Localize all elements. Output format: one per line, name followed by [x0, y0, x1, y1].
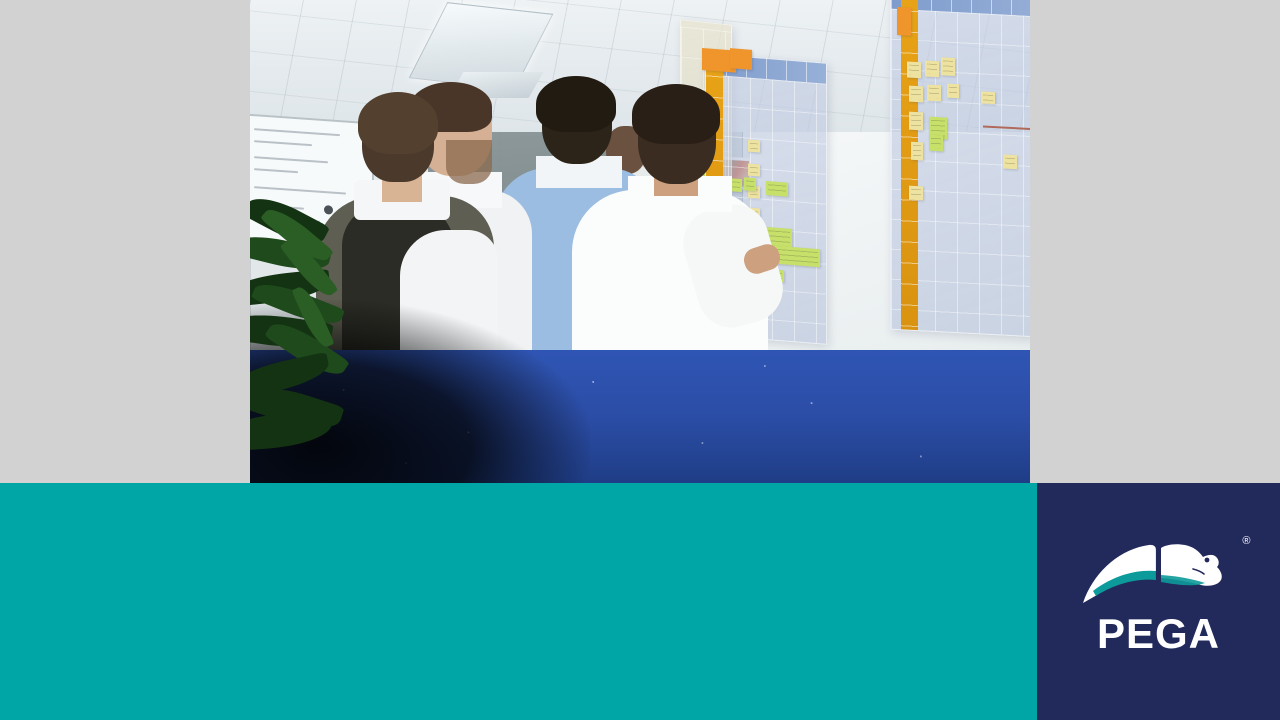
photo-sticky-note: [730, 48, 752, 70]
photo-sticky-note: [748, 164, 760, 177]
photo-sticky-note: [909, 86, 923, 103]
pega-logo: PEGA ®: [1079, 533, 1239, 655]
slide-top-background: [0, 0, 1280, 483]
photo-foreground-plant: [250, 196, 430, 483]
photo-sticky-note: [925, 60, 939, 77]
pegasus-logo-icon: [1079, 533, 1239, 605]
photo-sticky-note: [911, 142, 923, 161]
photo-sticky-note: [907, 62, 921, 79]
photo-sticky-note: [744, 177, 756, 191]
photo-sticky-note: [929, 135, 943, 152]
photo-sticky-note: [981, 91, 995, 104]
title-band: Backlog Prioritization Techniques Common…: [0, 483, 1037, 720]
photo-sticky-note: [766, 181, 788, 197]
photo-sticky-note: [927, 85, 941, 102]
registered-trademark-icon: ®: [1242, 535, 1250, 547]
photo-sticky-note: [909, 112, 923, 131]
presentation-slide: Backlog Prioritization Techniques Common…: [0, 0, 1280, 720]
brand-panel: PEGA ®: [1037, 483, 1280, 720]
photo-sticky-note: [748, 140, 760, 153]
hero-photo: [250, 0, 1030, 483]
photo-sticky-note: [941, 57, 955, 76]
photo-sticky-note: [909, 186, 923, 201]
photo-planning-board-right: [890, 0, 1030, 338]
pega-wordmark: PEGA: [1097, 613, 1220, 655]
photo-sticky-note: [947, 84, 959, 99]
photo-sticky-note: [1003, 155, 1017, 170]
photo-sticky-note: [897, 7, 911, 36]
